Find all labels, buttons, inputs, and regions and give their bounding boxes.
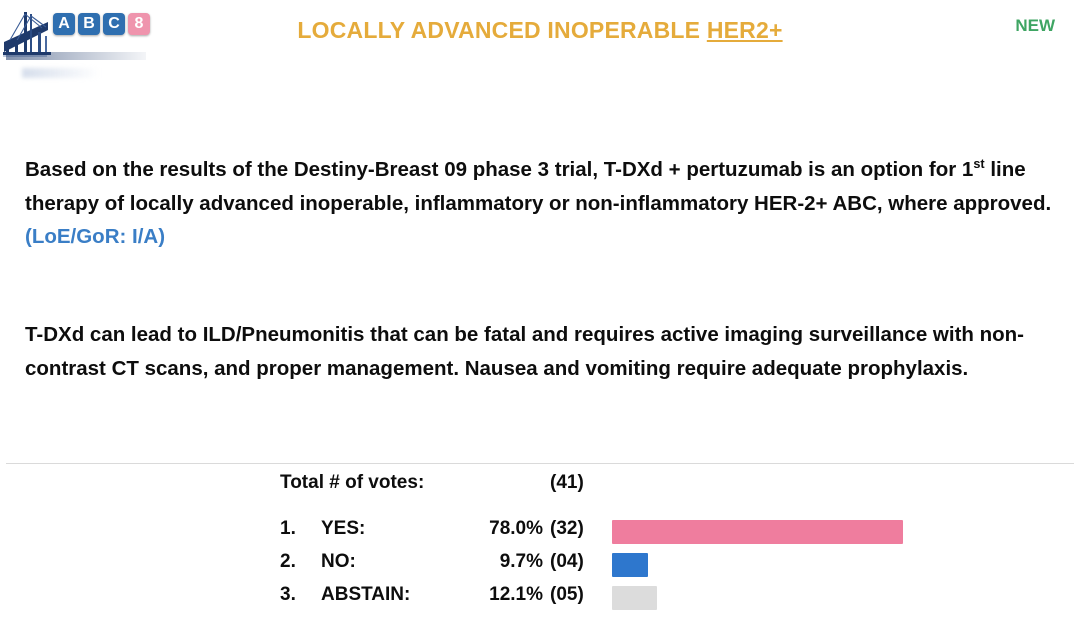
- vote-percent-no: 9.7%: [400, 551, 543, 573]
- vote-total-label: Total # of votes:: [280, 472, 424, 494]
- vote-total-row: Total # of votes: (41): [0, 472, 1080, 498]
- vote-index-1: 1.: [280, 518, 310, 540]
- slide-title-main: LOCALLY ADVANCED INOPERABLE: [297, 17, 706, 43]
- vote-index-3: 3.: [280, 584, 310, 606]
- vote-count-yes: (32): [550, 518, 596, 540]
- logo-sweep-decoration: [6, 52, 146, 60]
- recommendation-text-part1: Based on the results of the Destiny-Brea…: [25, 158, 973, 181]
- evidence-grade-label: (LoE/GoR: I/A): [25, 225, 165, 248]
- slide-title-her2: HER2+: [707, 17, 783, 43]
- vote-count-no: (04): [550, 551, 596, 573]
- slide-header: A B C 8 LOCALLY ADVANCED INOPERABLE HER2…: [0, 0, 1080, 70]
- vote-row-no: 2. NO: 9.7% (04): [0, 551, 1080, 577]
- slide-title: LOCALLY ADVANCED INOPERABLE HER2+: [0, 17, 1080, 44]
- section-divider: [6, 463, 1074, 464]
- vote-bar-yes: [612, 520, 903, 544]
- vote-label-no: NO:: [321, 551, 356, 573]
- vote-count-abstain: (05): [550, 584, 596, 606]
- vote-row-yes: 1. YES: 78.0% (32): [0, 518, 1080, 544]
- vote-index-2: 2.: [280, 551, 310, 573]
- vote-label-abstain: ABSTAIN:: [321, 584, 410, 606]
- vote-bar-abstain: [612, 586, 657, 610]
- logo-shadow-decoration: [22, 68, 100, 78]
- vote-percent-yes: 78.0%: [400, 518, 543, 540]
- new-badge: NEW: [1015, 16, 1055, 36]
- recommendation-ordinal-suffix: st: [973, 156, 984, 171]
- recommendation-paragraph: Based on the results of the Destiny-Brea…: [25, 153, 1062, 254]
- vote-percent-abstain: 12.1%: [400, 584, 543, 606]
- vote-label-yes: YES:: [321, 518, 365, 540]
- safety-paragraph: T-DXd can lead to ILD/Pneumonitis that c…: [25, 318, 1070, 385]
- vote-row-abstain: 3. ABSTAIN: 12.1% (05): [0, 584, 1080, 610]
- vote-total-count: (41): [550, 472, 596, 494]
- vote-bar-no: [612, 553, 648, 577]
